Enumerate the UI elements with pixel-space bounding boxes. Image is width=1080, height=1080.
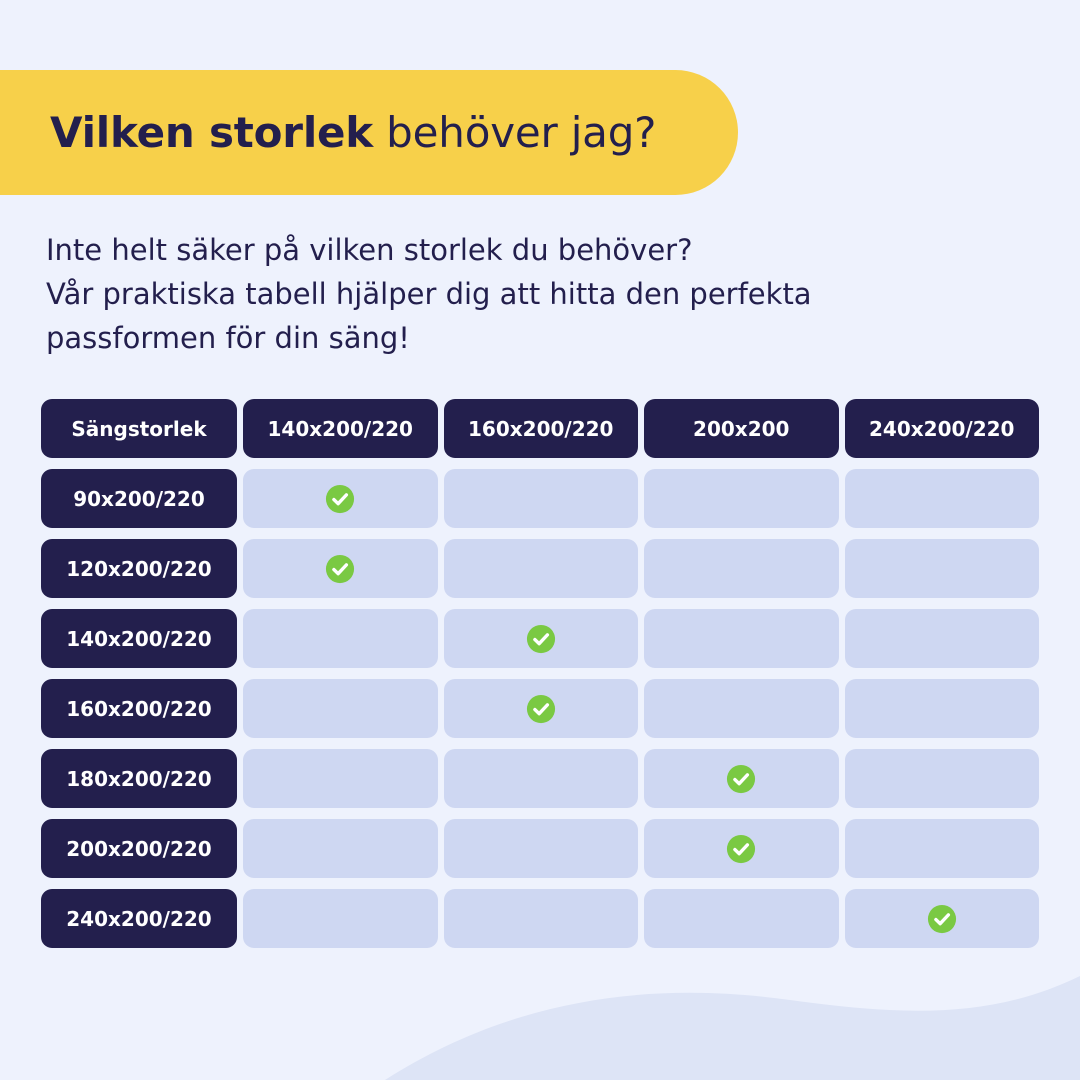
table-cell-checked [644,749,839,808]
table-cell-empty [644,609,839,668]
size-table: Sängstorlek140x200/220160x200/220200x200… [41,399,1039,948]
row-header-cell: 240x200/220 [41,889,237,948]
table-cell-checked [444,609,639,668]
table-row: 240x200/220 [41,889,1039,948]
row-header-label: 120x200/220 [66,557,211,581]
title-banner: Vilken storlek behöver jag? [0,70,738,195]
check-circle-icon [726,764,756,794]
table-cell-empty [845,819,1040,878]
table-cell-checked [444,679,639,738]
table-cell-empty [243,609,438,668]
table-row: 140x200/220 [41,609,1039,668]
check-circle-icon [325,554,355,584]
table-row: 160x200/220 [41,679,1039,738]
subtitle-line-3: passformen för din säng! [46,316,946,360]
row-header-cell: 90x200/220 [41,469,237,528]
row-header-cell: 200x200/220 [41,819,237,878]
table-cell-empty [444,469,639,528]
column-header-label: 140x200/220 [268,417,413,441]
table-cell-empty [444,539,639,598]
table-cell-checked [243,539,438,598]
row-header-cell: 140x200/220 [41,609,237,668]
table-cell-empty [243,819,438,878]
table-cell-empty [845,539,1040,598]
table-cell-empty [243,889,438,948]
row-header-cell: 160x200/220 [41,679,237,738]
page-title-bold: Vilken storlek [50,108,373,157]
check-circle-icon [526,694,556,724]
table-row: 90x200/220 [41,469,1039,528]
table-cell-checked [845,889,1040,948]
column-header-label: 160x200/220 [468,417,613,441]
wave-decoration [0,960,1080,1080]
column-header-label: 200x200 [693,417,789,441]
table-row: 120x200/220 [41,539,1039,598]
table-column-header: 240x200/220 [845,399,1040,458]
table-cell-empty [444,819,639,878]
table-cell-empty [845,469,1040,528]
check-circle-icon [325,484,355,514]
row-header-label: 160x200/220 [66,697,211,721]
row-header-label: 180x200/220 [66,767,211,791]
table-cell-empty [845,749,1040,808]
row-header-cell: 120x200/220 [41,539,237,598]
page-title-regular: behöver jag? [373,108,656,157]
table-cell-empty [845,679,1040,738]
subtitle-line-1: Inte helt säker på vilken storlek du beh… [46,228,946,272]
table-cell-empty [444,889,639,948]
column-header-label: 240x200/220 [869,417,1014,441]
table-column-header: 160x200/220 [444,399,639,458]
row-header-label: 200x200/220 [66,837,211,861]
row-header-cell: 180x200/220 [41,749,237,808]
table-cell-empty [644,469,839,528]
table-cell-empty [644,889,839,948]
table-cell-empty [644,539,839,598]
subtitle-line-2: Vår praktiska tabell hjälper dig att hit… [46,272,946,316]
table-corner-header: Sängstorlek [41,399,237,458]
table-cell-checked [243,469,438,528]
row-header-label: 240x200/220 [66,907,211,931]
table-row: 180x200/220 [41,749,1039,808]
subtitle: Inte helt säker på vilken storlek du beh… [46,228,946,360]
check-circle-icon [927,904,957,934]
table-cell-empty [444,749,639,808]
table-cell-empty [845,609,1040,668]
check-circle-icon [726,834,756,864]
row-header-label: 140x200/220 [66,627,211,651]
wave-shape [385,976,1080,1080]
check-circle-icon [526,624,556,654]
table-cell-checked [644,819,839,878]
page-title: Vilken storlek behöver jag? [50,108,656,157]
table-cell-empty [644,679,839,738]
table-header-row: Sängstorlek140x200/220160x200/220200x200… [41,399,1039,458]
table-column-header: 200x200 [644,399,839,458]
table-row: 200x200/220 [41,819,1039,878]
row-header-label: 90x200/220 [73,487,205,511]
table-cell-empty [243,679,438,738]
column-header-label: Sängstorlek [71,417,206,441]
table-cell-empty [243,749,438,808]
table-column-header: 140x200/220 [243,399,438,458]
